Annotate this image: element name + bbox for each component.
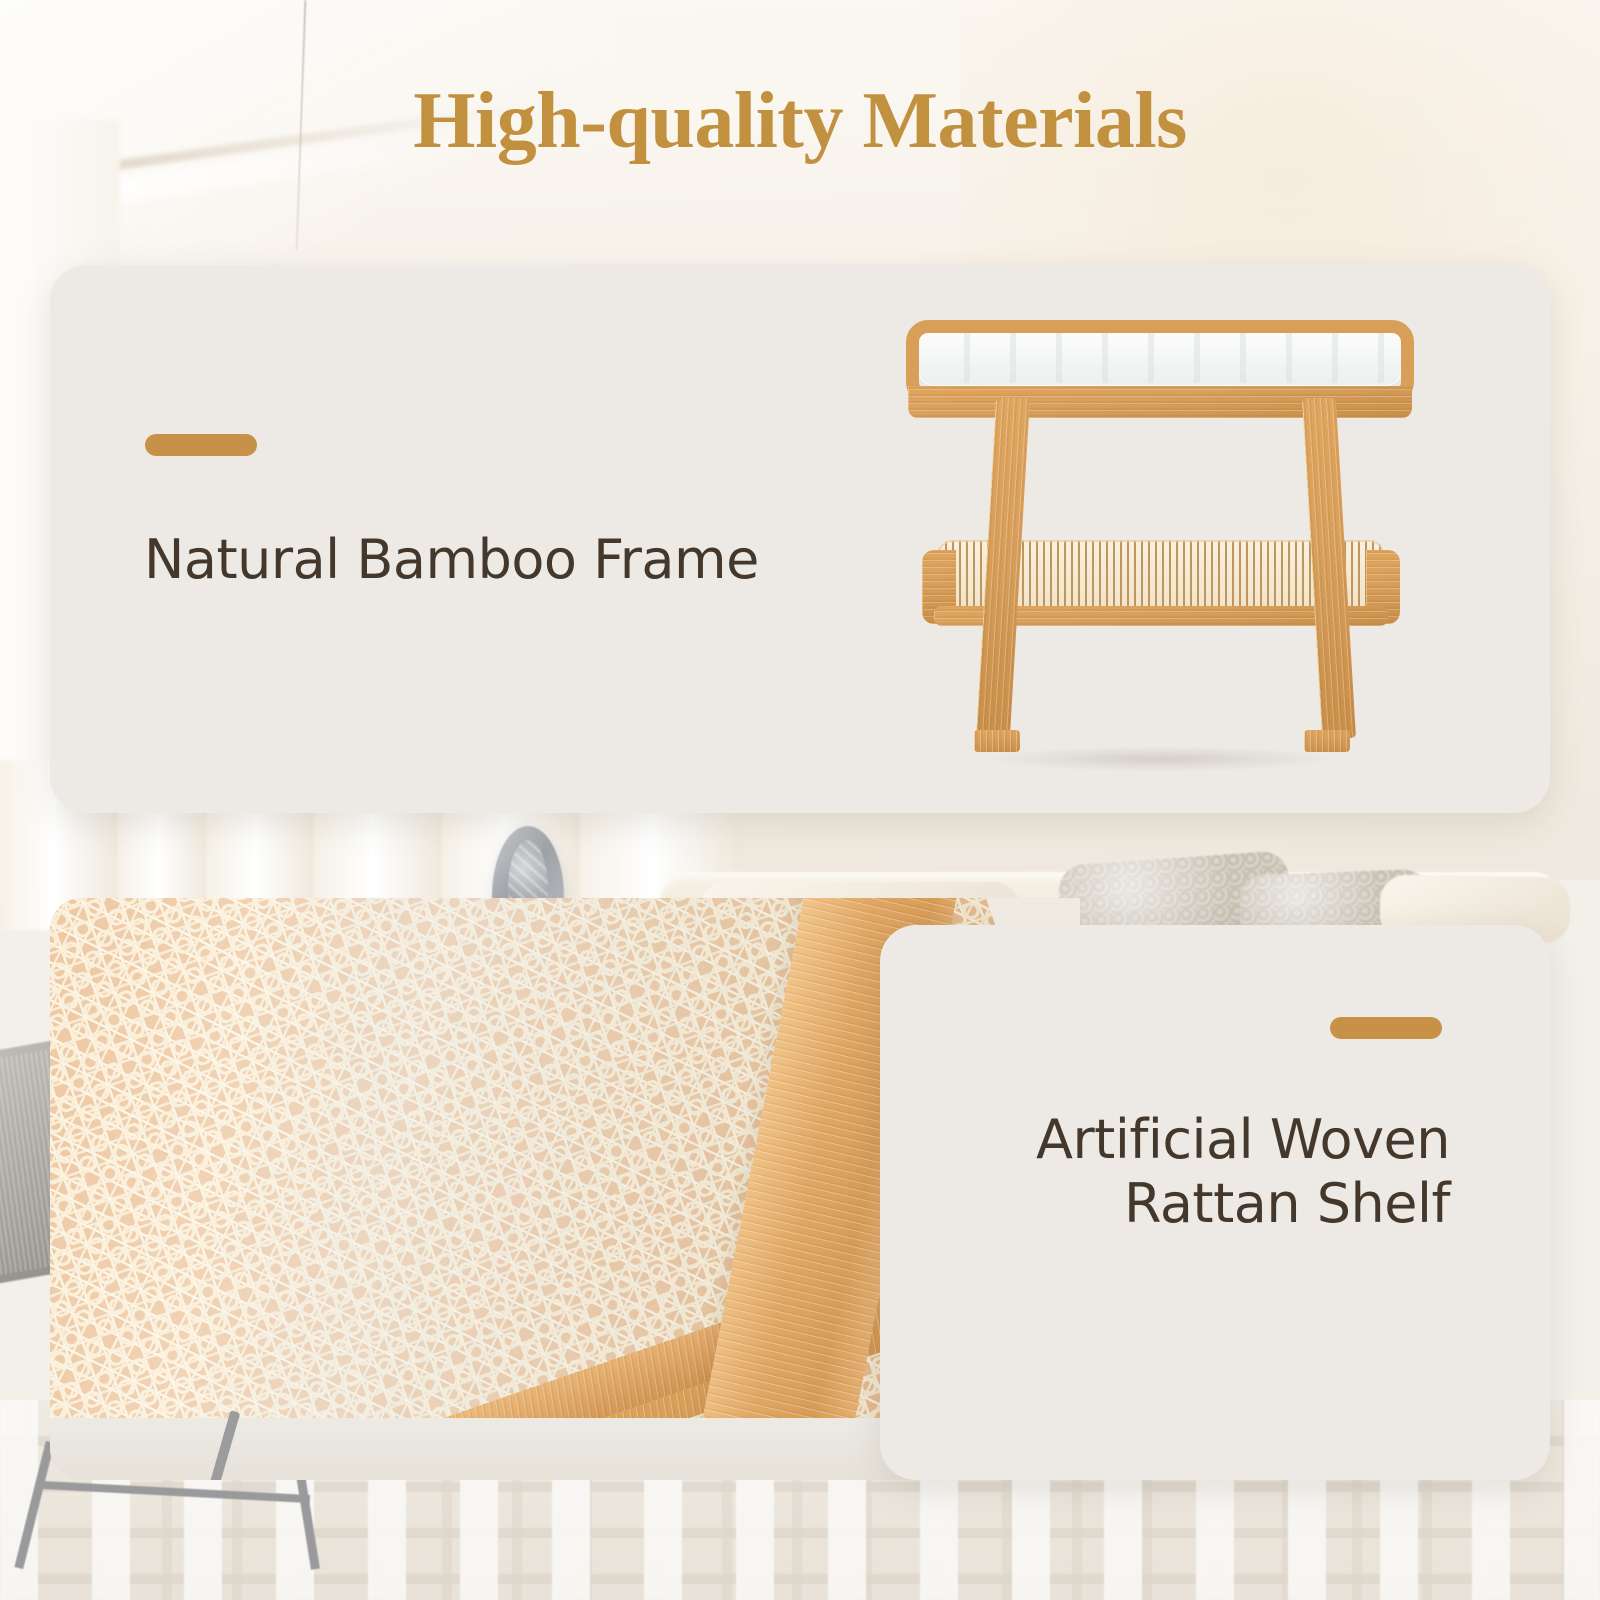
product-shadow	[980, 746, 1340, 772]
feature-label-line-2: Rattan Shelf	[890, 1172, 1450, 1236]
page-title: High-quality Materials	[0, 76, 1600, 167]
bamboo-side-table-image	[900, 318, 1420, 768]
accent-dash-icon	[145, 434, 257, 456]
accent-dash-icon	[1330, 1017, 1442, 1039]
feature-label-line-1: Artificial Woven	[890, 1108, 1450, 1172]
table-foot-left	[974, 730, 1020, 752]
feature-label-rattan-shelf: Artificial Woven Rattan Shelf	[890, 1108, 1450, 1235]
feature-label-bamboo-frame: Natural Bamboo Frame	[144, 528, 759, 592]
table-foot-right	[1304, 730, 1350, 752]
